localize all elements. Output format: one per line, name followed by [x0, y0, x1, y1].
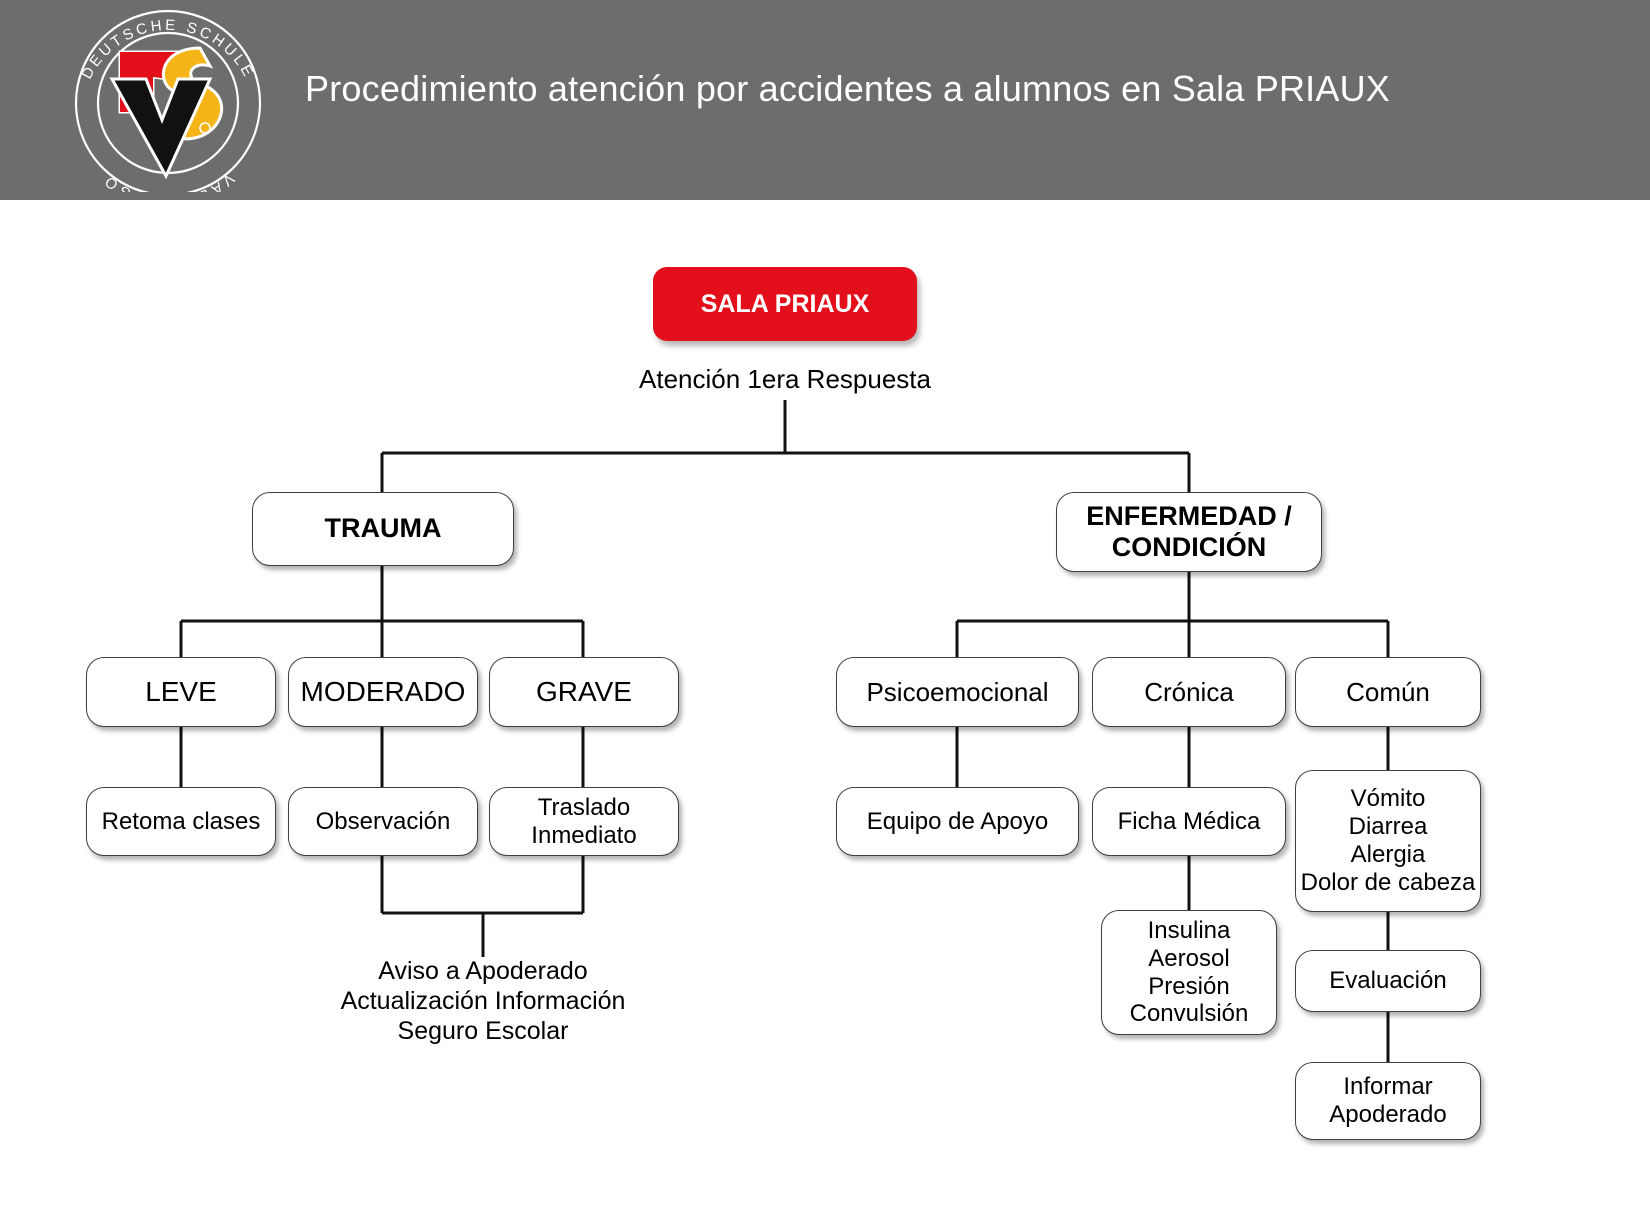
node-traslado-inmediato[interactable]: Traslado Inmediato — [489, 787, 679, 856]
node-leve[interactable]: LEVE — [86, 657, 276, 727]
node-cronica[interactable]: Crónica — [1092, 657, 1286, 727]
node-label: Retoma clases — [102, 808, 261, 836]
node-label: Informar Apoderado — [1329, 1073, 1446, 1129]
school-logo: DEUTSCHE SCHULE VALPARAISO — [50, 8, 285, 192]
root-caption: Atención 1era Respuesta — [585, 364, 985, 395]
trauma-merge-caption-text: Aviso a Apoderado Actualización Informac… — [341, 957, 626, 1045]
node-retoma-clases[interactable]: Retoma clases — [86, 787, 276, 856]
node-label: MODERADO — [301, 676, 466, 708]
node-label: Insulina Aerosol Presión Convulsión — [1130, 917, 1249, 1028]
node-label: Equipo de Apoyo — [867, 808, 1049, 836]
page-title: Procedimiento atención por accidentes a … — [305, 68, 1605, 110]
node-label: LEVE — [145, 676, 217, 708]
node-evaluacion[interactable]: Evaluación — [1295, 950, 1481, 1012]
node-label: Observación — [316, 808, 451, 836]
node-comun[interactable]: Común — [1295, 657, 1481, 727]
node-trauma[interactable]: TRAUMA — [252, 492, 514, 566]
node-label: ENFERMEDAD / CONDICIÓN — [1086, 501, 1292, 564]
node-equipo-de-apoyo[interactable]: Equipo de Apoyo — [836, 787, 1079, 856]
node-insulina-aerosol-presion-convulsion[interactable]: Insulina Aerosol Presión Convulsión — [1101, 910, 1277, 1035]
node-enfermedad-condicion[interactable]: ENFERMEDAD / CONDICIÓN — [1056, 492, 1322, 572]
node-vomito-diarrea-alergia-dolor-de-cabeza[interactable]: Vómito Diarrea Alergia Dolor de cabeza — [1295, 770, 1481, 912]
flowchart-page: DEUTSCHE SCHULE VALPARAISO Procedimiento… — [0, 0, 1650, 1217]
node-observacion[interactable]: Observación — [288, 787, 478, 856]
node-label: SALA PRIAUX — [701, 290, 870, 319]
node-label: Traslado Inmediato — [531, 794, 636, 850]
node-sala-priaux[interactable]: SALA PRIAUX — [653, 267, 917, 341]
node-label: Psicoemocional — [866, 677, 1048, 707]
node-moderado[interactable]: MODERADO — [288, 657, 478, 727]
node-label: Ficha Médica — [1118, 808, 1261, 836]
node-ficha-medica[interactable]: Ficha Médica — [1092, 787, 1286, 856]
node-label: GRAVE — [536, 676, 632, 708]
trauma-merge-caption: Aviso a Apoderado Actualización Informac… — [283, 956, 683, 1046]
node-label: TRAUMA — [325, 513, 442, 544]
node-label: Vómito Diarrea Alergia Dolor de cabeza — [1301, 785, 1476, 896]
node-grave[interactable]: GRAVE — [489, 657, 679, 727]
node-psicoemocional[interactable]: Psicoemocional — [836, 657, 1079, 727]
node-informar-apoderado[interactable]: Informar Apoderado — [1295, 1062, 1481, 1140]
node-label: Común — [1346, 677, 1430, 707]
node-label: Evaluación — [1329, 967, 1446, 995]
node-label: Crónica — [1144, 677, 1234, 707]
page-header: DEUTSCHE SCHULE VALPARAISO Procedimiento… — [0, 0, 1650, 200]
